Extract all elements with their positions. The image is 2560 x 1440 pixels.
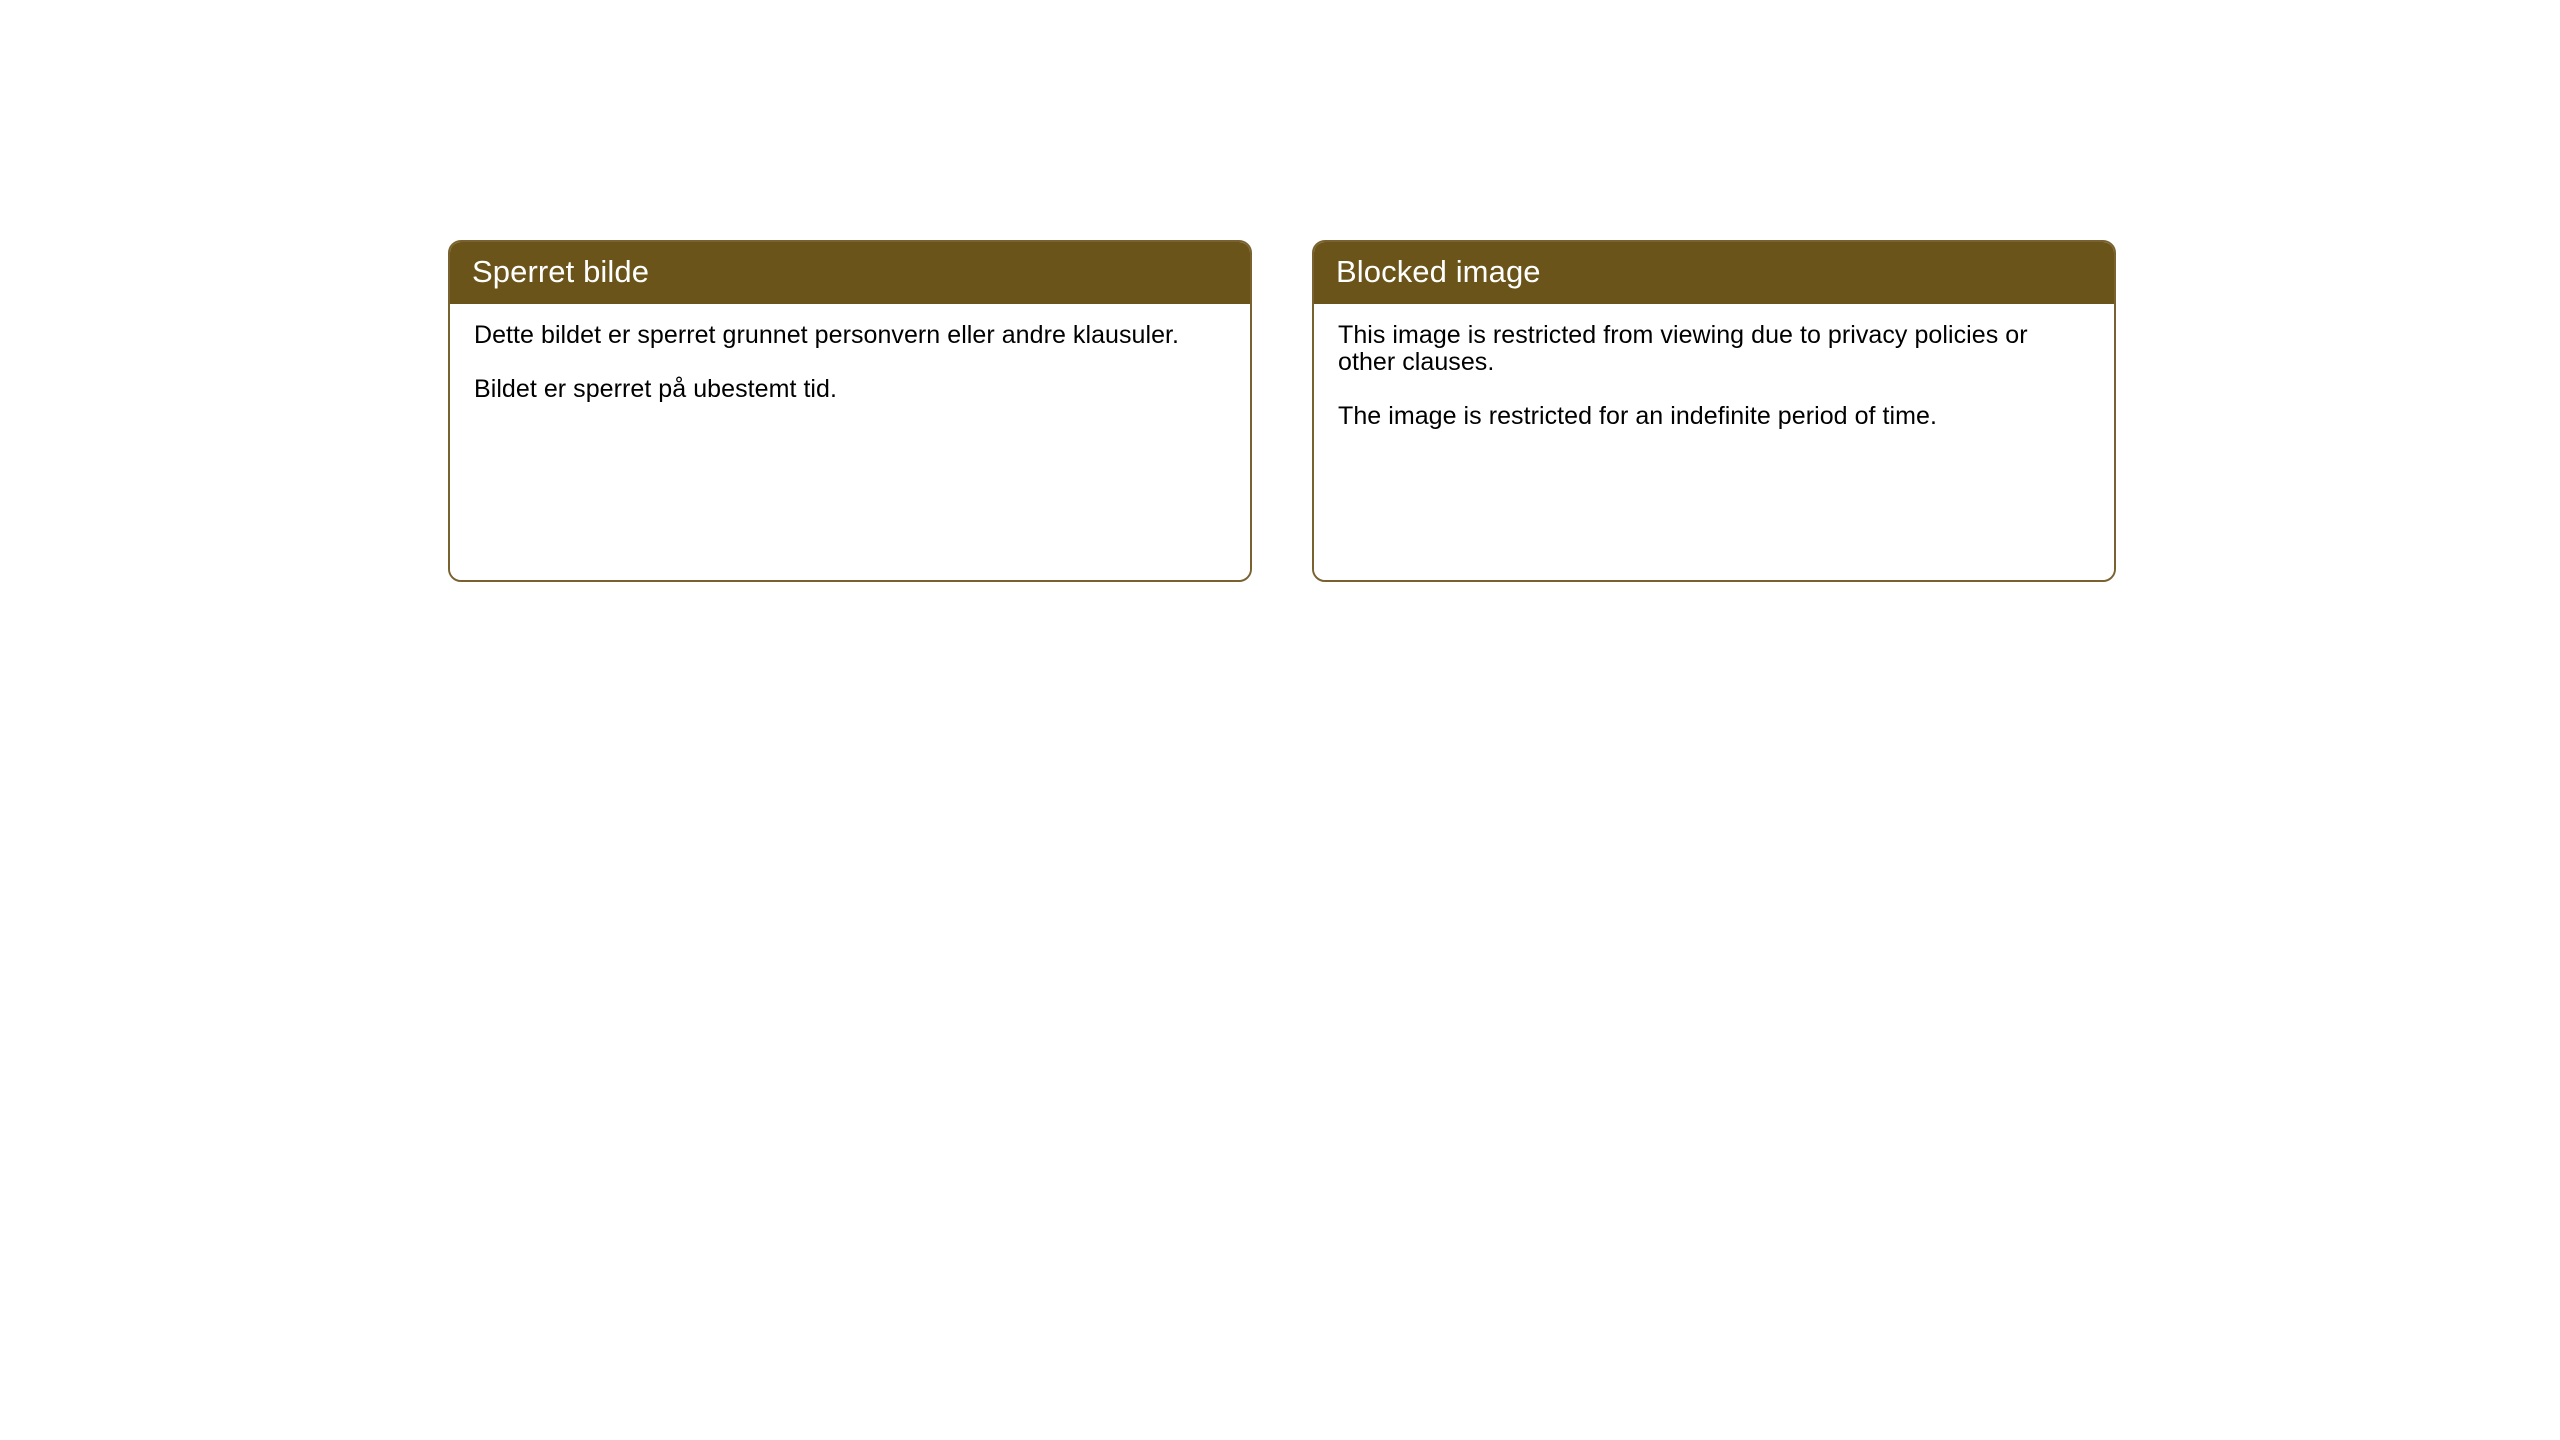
- paragraph-spacer: [1338, 376, 2090, 403]
- card-paragraph-english-2: The image is restricted for an indefinit…: [1338, 403, 2090, 430]
- card-header-norwegian: Sperret bilde: [448, 240, 1252, 304]
- card-paragraph-english-1: This image is restricted from viewing du…: [1338, 322, 2090, 376]
- card-header-english: Blocked image: [1312, 240, 2116, 304]
- card-paragraph-norwegian-2: Bildet er sperret på ubestemt tid.: [474, 376, 1226, 403]
- card-body-norwegian: Dette bildet er sperret grunnet personve…: [450, 304, 1250, 580]
- blocked-image-notice-area: Sperret bilde Dette bildet er sperret gr…: [448, 240, 2133, 582]
- card-title-english: Blocked image: [1336, 255, 1541, 289]
- blocked-image-card-english: Blocked image This image is restricted f…: [1312, 240, 2116, 582]
- card-title-norwegian: Sperret bilde: [472, 255, 649, 289]
- card-body-english: This image is restricted from viewing du…: [1314, 304, 2114, 580]
- paragraph-spacer: [474, 349, 1226, 376]
- card-paragraph-norwegian-1: Dette bildet er sperret grunnet personve…: [474, 322, 1226, 349]
- blocked-image-card-norwegian: Sperret bilde Dette bildet er sperret gr…: [448, 240, 1252, 582]
